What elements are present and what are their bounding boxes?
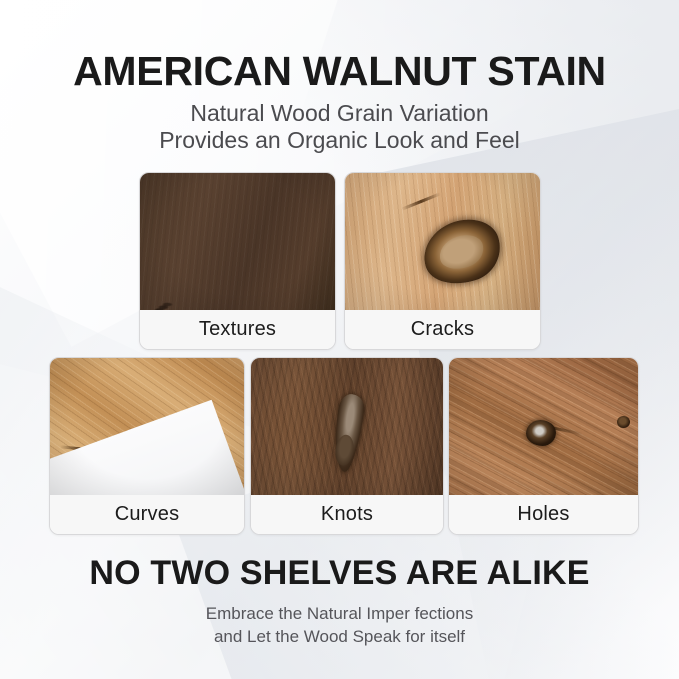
feature-photo-curves [50, 358, 244, 495]
feature-tile-holes[interactable]: Holes [448, 357, 639, 535]
footer-subheadline: Embrace the Natural Imper fections and L… [0, 602, 679, 648]
feature-tile-knots[interactable]: Knots [250, 357, 444, 535]
hole-detail-secondary [617, 416, 630, 428]
main-subheadline-line-1: Natural Wood Grain Variation [0, 100, 679, 127]
footer-subheadline-line-1: Embrace the Natural Imper fections [0, 602, 679, 625]
wood-texture-dark-walnut [140, 173, 335, 310]
feature-photo-holes [449, 358, 638, 495]
feature-photo-knots [251, 358, 443, 495]
main-headline: AMERICAN WALNUT STAIN [0, 48, 679, 95]
feature-caption-cracks: Cracks [345, 310, 540, 349]
footer-subheadline-line-2: and Let the Wood Speak for itself [0, 625, 679, 648]
feature-caption-curves: Curves [50, 495, 244, 534]
infographic-canvas: AMERICAN WALNUT STAIN Natural Wood Grain… [0, 0, 679, 679]
feature-caption-holes: Holes [449, 495, 638, 534]
feature-tile-textures[interactable]: Textures [139, 172, 336, 350]
feature-tile-cracks[interactable]: Cracks [344, 172, 541, 350]
hole-detail-primary [526, 420, 556, 446]
main-subheadline-line-2: Provides an Organic Look and Feel [0, 127, 679, 154]
feature-photo-textures [140, 173, 335, 310]
main-subheadline: Natural Wood Grain Variation Provides an… [0, 100, 679, 154]
footer-headline: NO TWO SHELVES ARE ALIKE [0, 554, 679, 593]
feature-tile-curves[interactable]: Curves [49, 357, 245, 535]
feature-caption-textures: Textures [140, 310, 335, 349]
feature-photo-cracks [345, 173, 540, 310]
feature-caption-knots: Knots [251, 495, 443, 534]
